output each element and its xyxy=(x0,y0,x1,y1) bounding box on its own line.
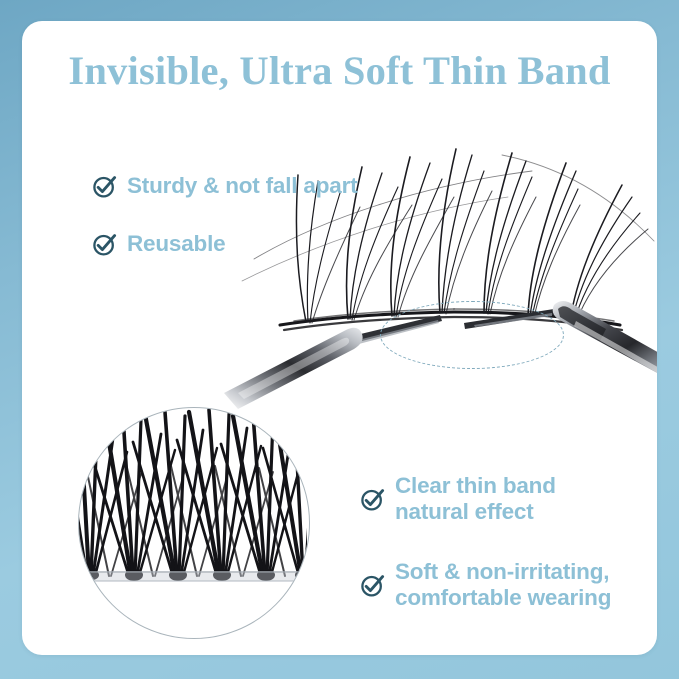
feature-label: Clear thin band natural effect xyxy=(395,473,556,525)
check-circle-icon xyxy=(360,573,385,598)
band-highlight-ellipse xyxy=(380,301,564,369)
feature-item-soft: Soft & non-irritating, comfortable weari… xyxy=(360,559,611,611)
feature-label: Soft & non-irritating, comfortable weari… xyxy=(395,559,611,611)
feature-item-sturdy: Sturdy & not fall apart xyxy=(92,173,357,199)
check-circle-icon xyxy=(92,174,117,199)
check-circle-icon xyxy=(92,232,117,257)
feature-item-clear-band: Clear thin band natural effect xyxy=(360,473,556,525)
check-circle-icon xyxy=(360,487,385,512)
white-card: Invisible, Ultra Soft Thin Band xyxy=(22,21,657,655)
lash-band-macro-closeup xyxy=(78,407,310,639)
feature-label: Reusable xyxy=(127,231,225,257)
product-feature-graphic: Invisible, Ultra Soft Thin Band xyxy=(0,0,679,679)
feature-label: Sturdy & not fall apart xyxy=(127,173,357,199)
feature-item-reusable: Reusable xyxy=(92,231,225,257)
page-title: Invisible, Ultra Soft Thin Band xyxy=(22,47,657,94)
